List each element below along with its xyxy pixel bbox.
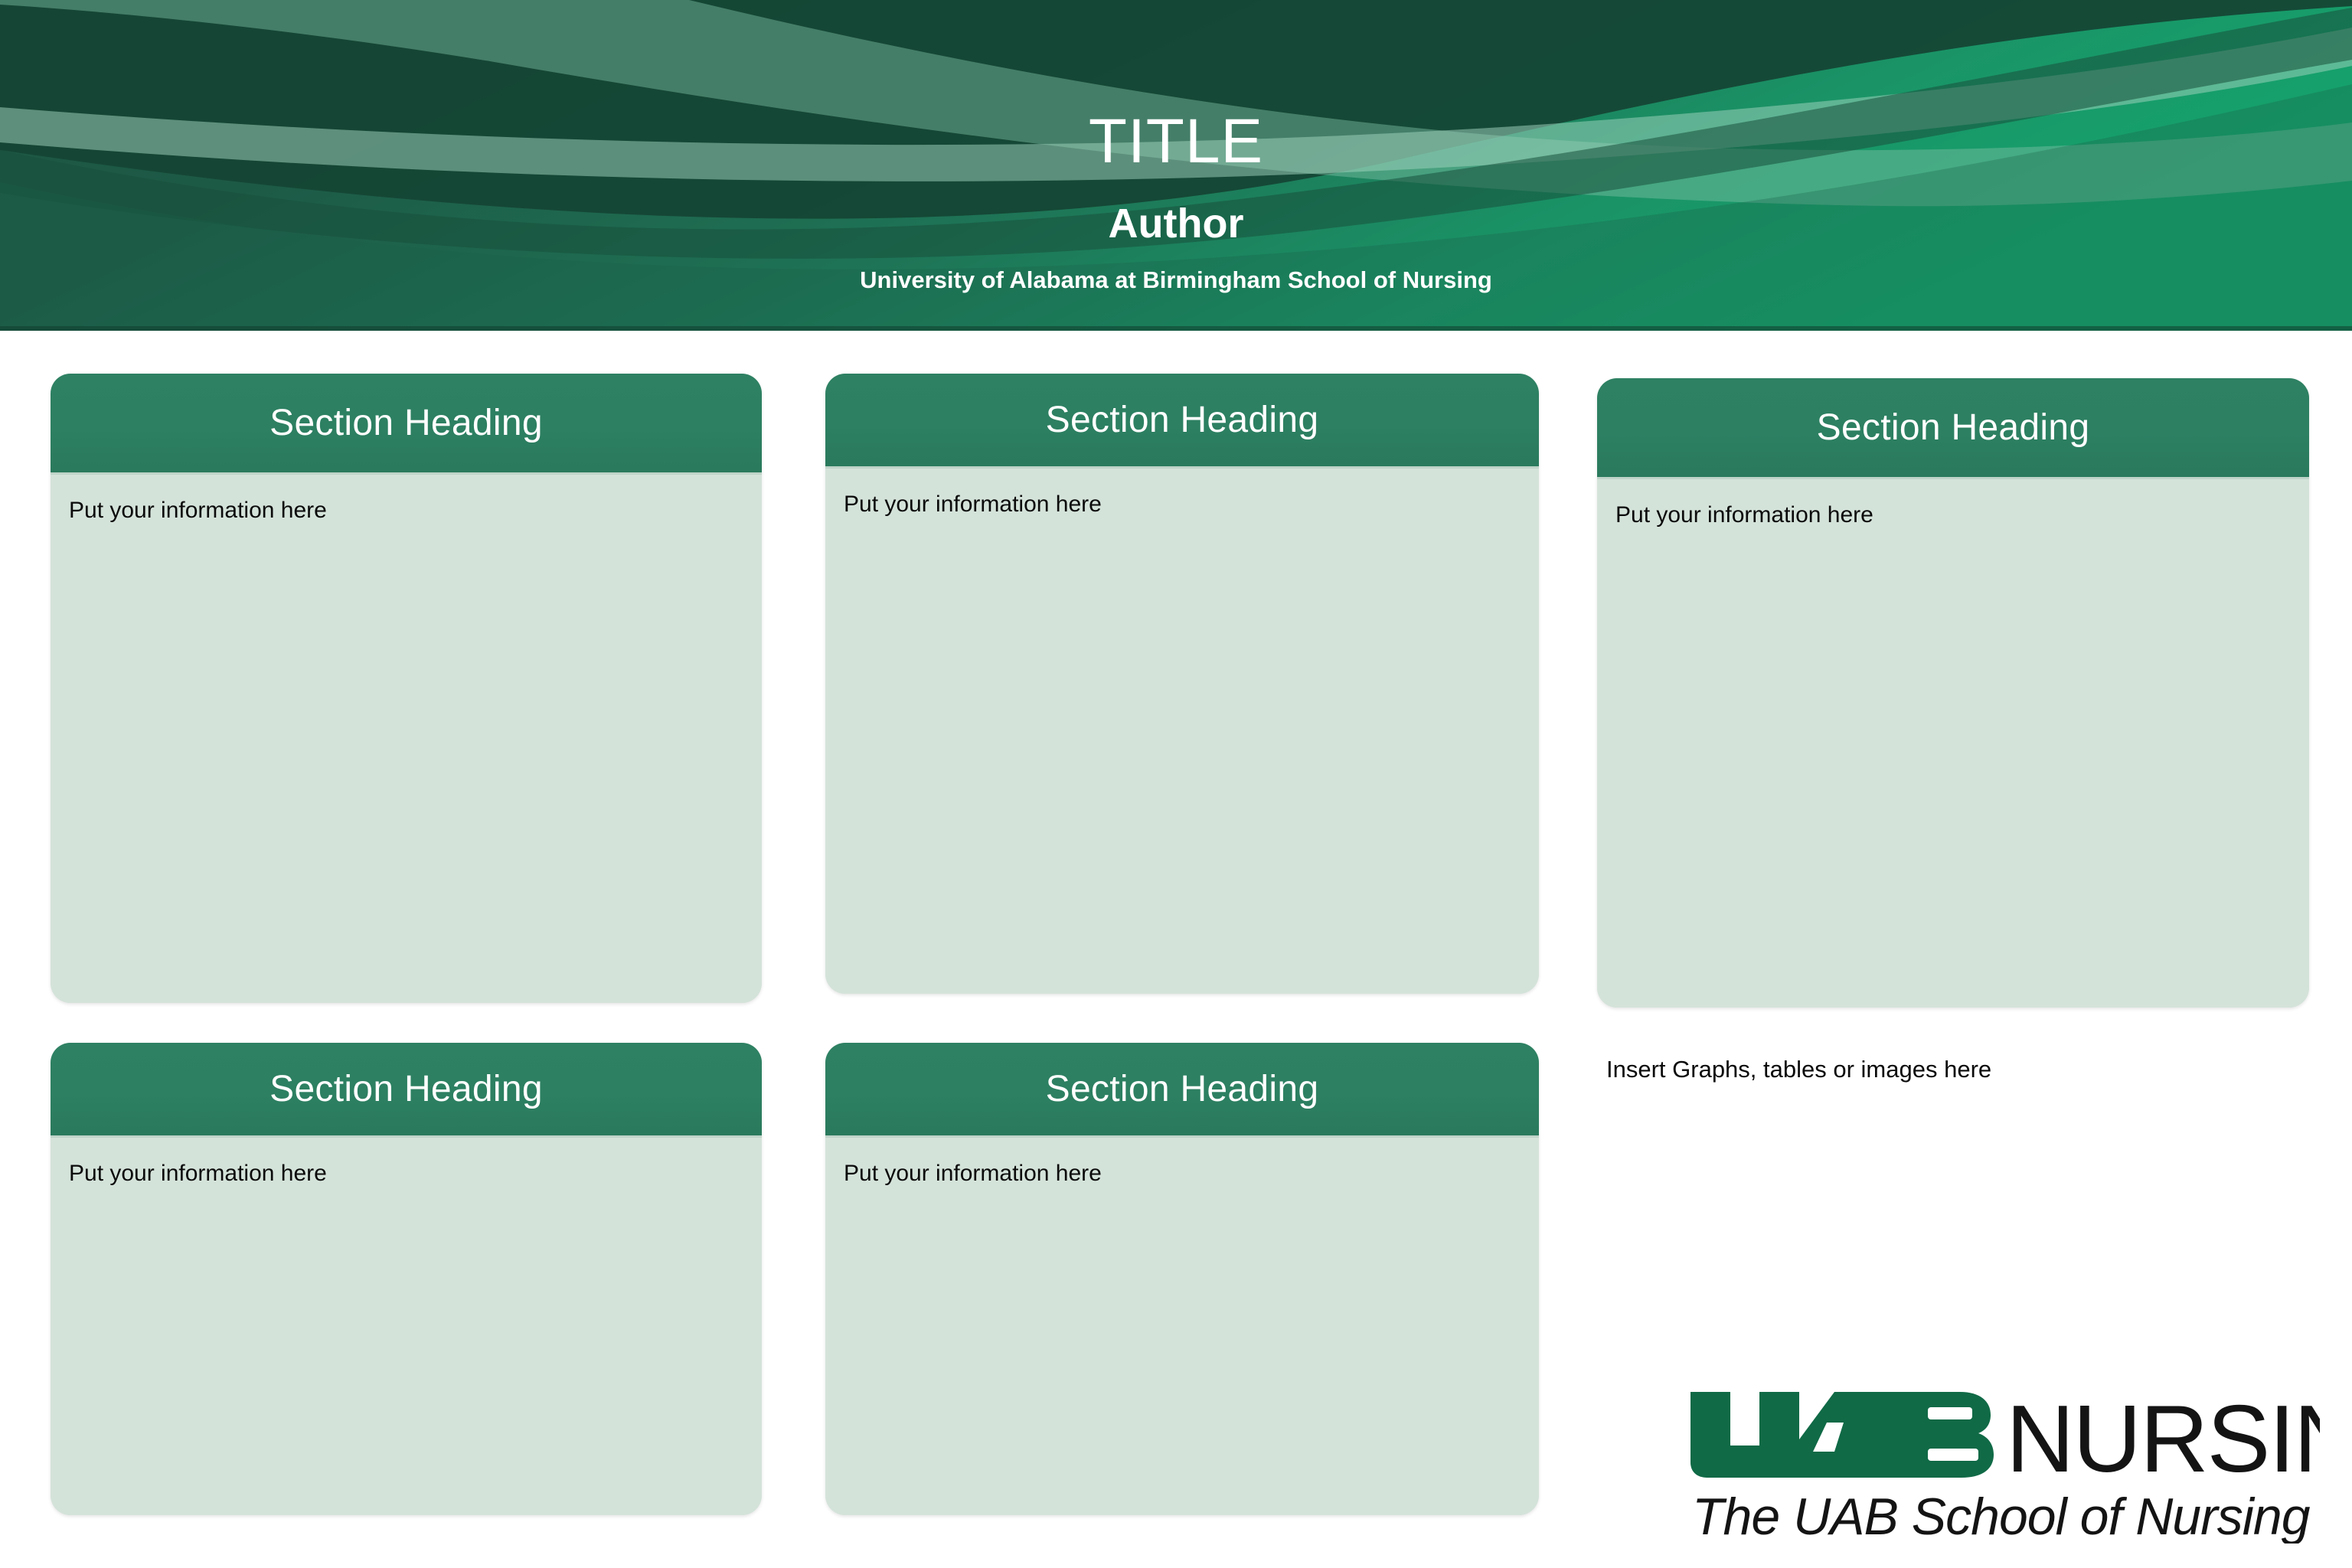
section-body-text: Put your information here xyxy=(844,490,1521,519)
section-card-2-header: Section Heading xyxy=(825,374,1539,469)
section-card-5-header: Section Heading xyxy=(825,1043,1539,1138)
section-card-3-header: Section Heading xyxy=(1597,378,2309,479)
section-heading-label: Section Heading xyxy=(1046,1069,1319,1110)
section-heading-label: Section Heading xyxy=(1817,407,2090,449)
section-card-4-body[interactable]: Put your information here xyxy=(51,1138,762,1515)
insert-media-placeholder-text[interactable]: Insert Graphs, tables or images here xyxy=(1606,1055,2295,1084)
section-heading-label: Section Heading xyxy=(269,403,543,444)
section-card-2-body[interactable]: Put your information here xyxy=(825,469,1539,994)
affiliation-text: University of Alabama at Birmingham Scho… xyxy=(0,266,2352,294)
section-card-1-body[interactable]: Put your information here xyxy=(51,475,762,1003)
section-body-text: Put your information here xyxy=(1615,501,2291,530)
logo-wordmark-text: NURSING xyxy=(2006,1387,2320,1492)
section-card-2[interactable]: Section Heading Put your information her… xyxy=(825,374,1539,994)
section-body-text: Put your information here xyxy=(844,1159,1521,1188)
section-heading-label: Section Heading xyxy=(269,1069,543,1110)
section-card-5-body[interactable]: Put your information here xyxy=(825,1138,1539,1515)
section-card-3[interactable]: Section Heading Put your information her… xyxy=(1597,378,2309,1008)
section-card-3-body[interactable]: Put your information here xyxy=(1597,479,2309,1008)
section-card-4-header: Section Heading xyxy=(51,1043,762,1138)
section-card-1[interactable]: Section Heading Put your information her… xyxy=(51,374,762,1003)
section-card-5[interactable]: Section Heading Put your information her… xyxy=(825,1043,1539,1515)
section-heading-label: Section Heading xyxy=(1046,400,1319,441)
author-name: Author xyxy=(0,201,2352,247)
section-body-text: Put your information here xyxy=(69,1159,743,1188)
uab-nursing-logo-graphic: NURSING The UAB School of Nursing xyxy=(1684,1378,2320,1543)
section-card-4[interactable]: Section Heading Put your information her… xyxy=(51,1043,762,1515)
banner-text-block: TITLE Author University of Alabama at Bi… xyxy=(0,0,2352,331)
logo-tagline-text: The UAB School of Nursing xyxy=(1692,1488,2311,1543)
section-body-text: Put your information here xyxy=(69,496,743,525)
poster-header-banner: TITLE Author University of Alabama at Bi… xyxy=(0,0,2352,331)
page-title: TITLE xyxy=(0,107,2352,176)
uab-nursing-logo: NURSING The UAB School of Nursing xyxy=(1684,1378,2320,1543)
section-card-1-header: Section Heading xyxy=(51,374,762,475)
